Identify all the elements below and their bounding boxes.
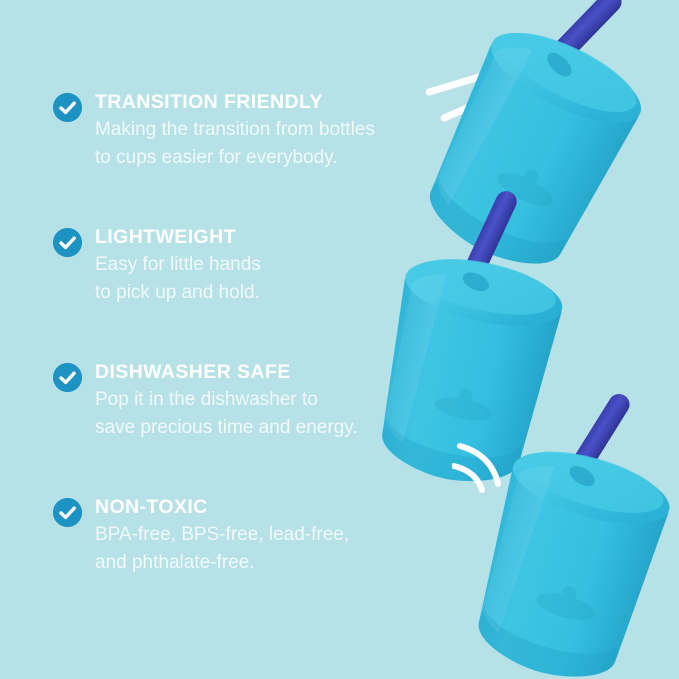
check-circle-icon bbox=[53, 363, 82, 392]
straw-bottom bbox=[537, 379, 635, 536]
check-circle-icon bbox=[53, 93, 82, 122]
cup-lid-middle bbox=[400, 248, 569, 338]
cup-body-top bbox=[408, 24, 648, 286]
feature-description: Easy for little hands to pick up and hol… bbox=[95, 251, 393, 307]
feature-description-line: to pick up and hold. bbox=[95, 279, 393, 307]
brand-emboss-middle bbox=[433, 384, 496, 425]
cup-lid-bottom bbox=[505, 438, 677, 538]
feature-title: LIGHTWEIGHT bbox=[95, 226, 393, 248]
brand-emboss-bottom bbox=[534, 578, 600, 625]
feature-title: TRANSITION FRIENDLY bbox=[95, 91, 393, 113]
feature-description-line: Pop it in the dishwasher to bbox=[95, 386, 393, 414]
straw-middle bbox=[437, 181, 521, 340]
feature-description-line: BPA-free, BPS-free, lead-free, bbox=[95, 521, 393, 549]
motion-lines-top bbox=[424, 30, 534, 140]
feature-description-line: save precious time and energy. bbox=[95, 414, 393, 442]
feature-item-transition-friendly: TRANSITION FRIENDLY Making the transitio… bbox=[53, 91, 393, 172]
feature-description-line: Making the transition from bottles bbox=[95, 116, 393, 144]
cup-bottom bbox=[438, 409, 679, 679]
cup-body-bottom bbox=[461, 446, 675, 679]
cup-lid-top bbox=[479, 15, 653, 141]
feature-item-lightweight: LIGHTWEIGHT Easy for little hands to pic… bbox=[53, 226, 393, 307]
check-circle-icon bbox=[53, 498, 82, 527]
feature-description-line: to cups easier for everybody. bbox=[95, 144, 393, 172]
feature-item-non-toxic: NON-TOXIC BPA-free, BPS-free, lead-free,… bbox=[53, 496, 393, 577]
cup-top bbox=[385, 0, 679, 309]
feature-description: Making the transition from bottles to cu… bbox=[95, 116, 393, 172]
feature-item-dishwasher-safe: DISHWASHER SAFE Pop it in the dishwasher… bbox=[53, 361, 393, 442]
feature-title: NON-TOXIC bbox=[95, 496, 393, 518]
feature-description-line: Easy for little hands bbox=[95, 251, 393, 279]
feature-description: Pop it in the dishwasher to save preciou… bbox=[95, 386, 393, 442]
straw-top bbox=[504, 0, 629, 128]
motion-lines-bottom bbox=[452, 432, 542, 512]
feature-title: DISHWASHER SAFE bbox=[95, 361, 393, 383]
feature-description-line: and phthalate-free. bbox=[95, 549, 393, 577]
brand-emboss-top bbox=[493, 157, 561, 212]
product-feature-graphic: TRANSITION FRIENDLY Making the transitio… bbox=[0, 0, 679, 679]
feature-list: TRANSITION FRIENDLY Making the transitio… bbox=[0, 0, 400, 679]
feature-description: BPA-free, BPS-free, lead-free, and phtha… bbox=[95, 521, 393, 577]
check-circle-icon bbox=[53, 228, 82, 257]
